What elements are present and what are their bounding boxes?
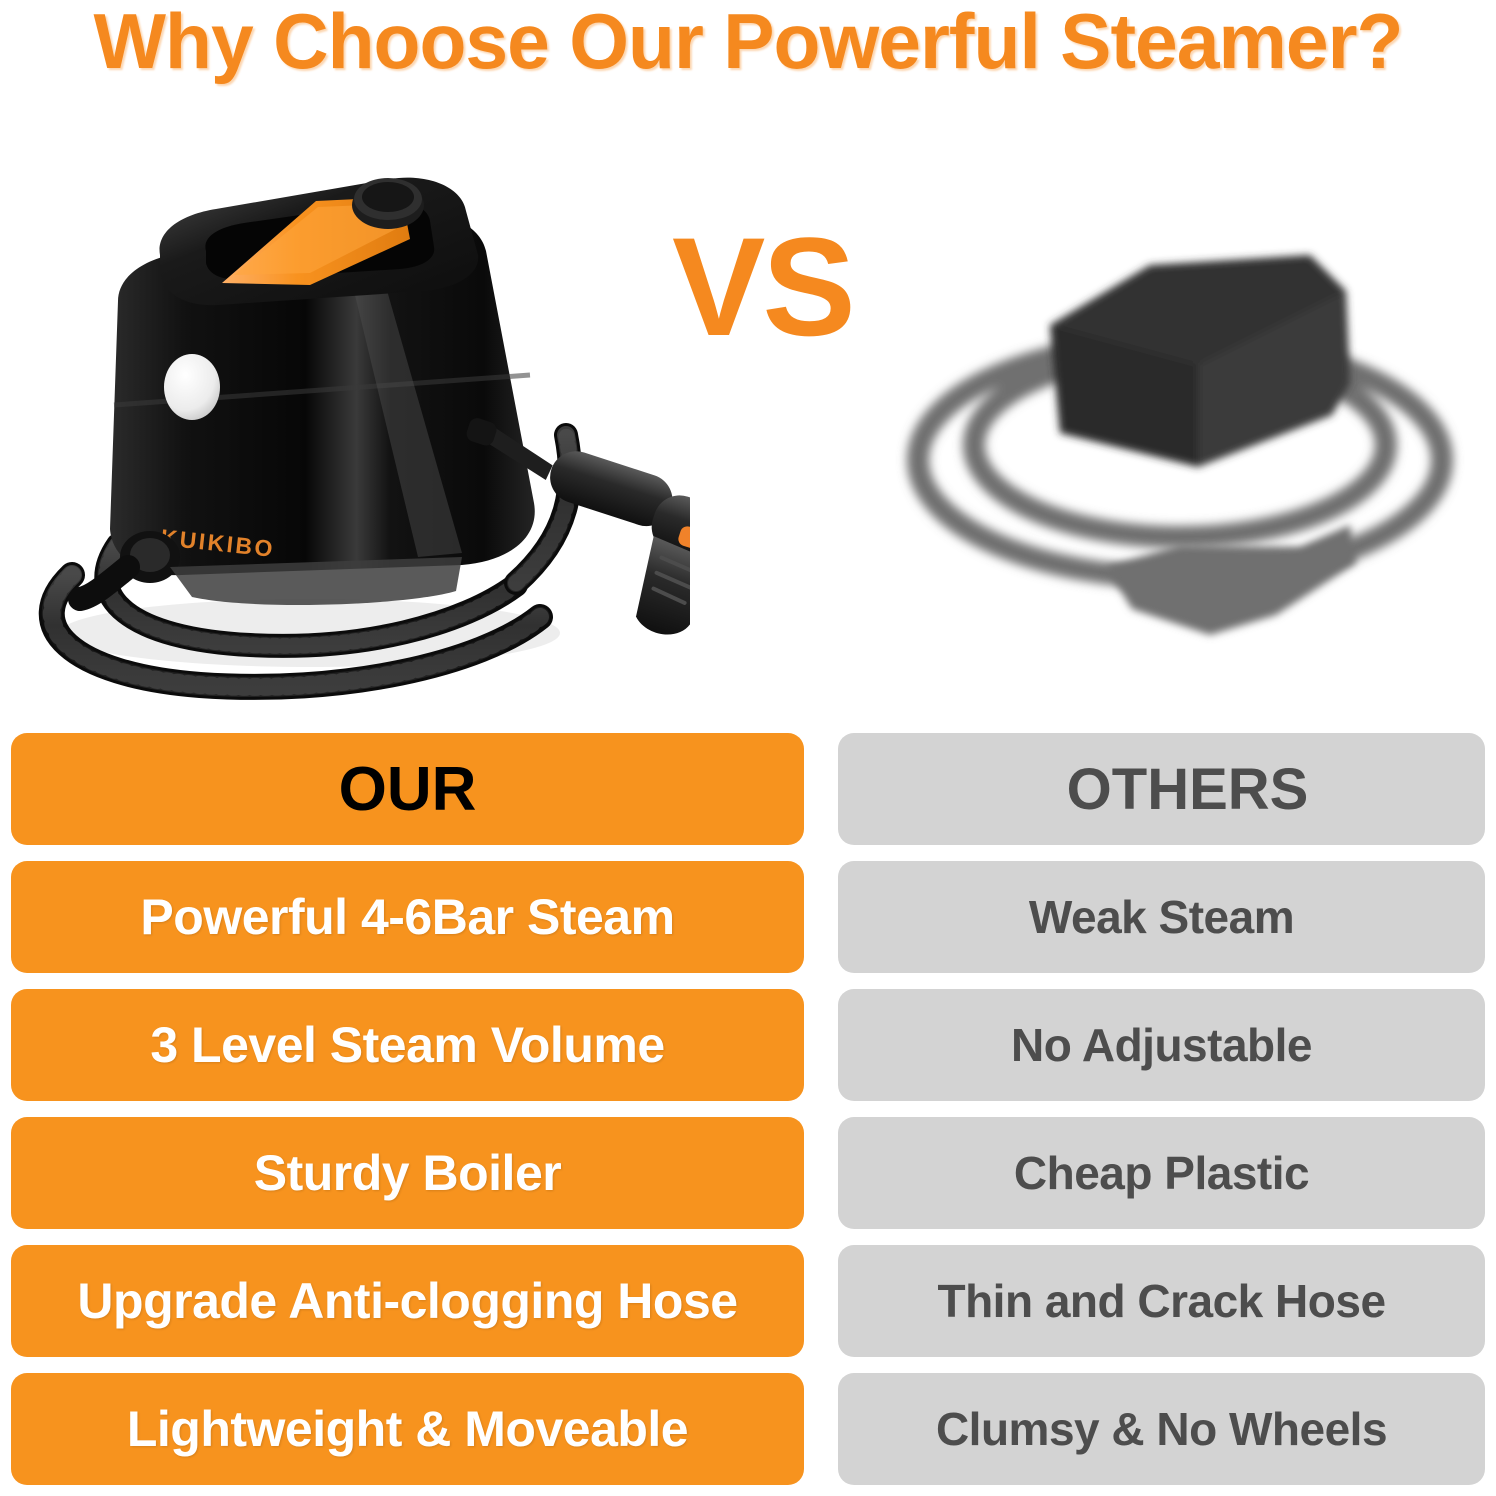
- others-column-header: OTHERS: [838, 733, 1485, 845]
- others-column-header-label: OTHERS: [1067, 756, 1309, 823]
- others-feature-row: Thin and Crack Hose: [838, 1245, 1485, 1357]
- our-feature-row: Upgrade Anti-clogging Hose: [11, 1245, 804, 1357]
- our-product-image: KUIKIBO: [10, 105, 690, 705]
- our-feature-row: 3 Level Steam Volume: [11, 989, 804, 1101]
- others-feature-row: Weak Steam: [838, 861, 1485, 973]
- our-feature-row: Powerful 4-6Bar Steam: [11, 861, 804, 973]
- hero-comparison-image: KUIKIBO VS: [0, 95, 1496, 720]
- our-column-header: OUR: [11, 733, 804, 845]
- others-column: OTHERS Weak Steam No Adjustable Cheap Pl…: [838, 733, 1485, 1496]
- others-feature-row: Clumsy & No Wheels: [838, 1373, 1485, 1485]
- page-title: Why Choose Our Powerful Steamer?: [11, 0, 1485, 87]
- our-feature-row: Lightweight & Moveable: [11, 1373, 804, 1485]
- competitor-product-image: [880, 115, 1480, 675]
- vs-label: VS: [672, 217, 853, 357]
- our-column: OUR Powerful 4-6Bar Steam 3 Level Steam …: [11, 733, 804, 1496]
- our-feature-row: Sturdy Boiler: [11, 1117, 804, 1229]
- comparison-table: OUR Powerful 4-6Bar Steam 3 Level Steam …: [0, 733, 1496, 1496]
- others-feature-row: No Adjustable: [838, 989, 1485, 1101]
- others-feature-row: Cheap Plastic: [838, 1117, 1485, 1229]
